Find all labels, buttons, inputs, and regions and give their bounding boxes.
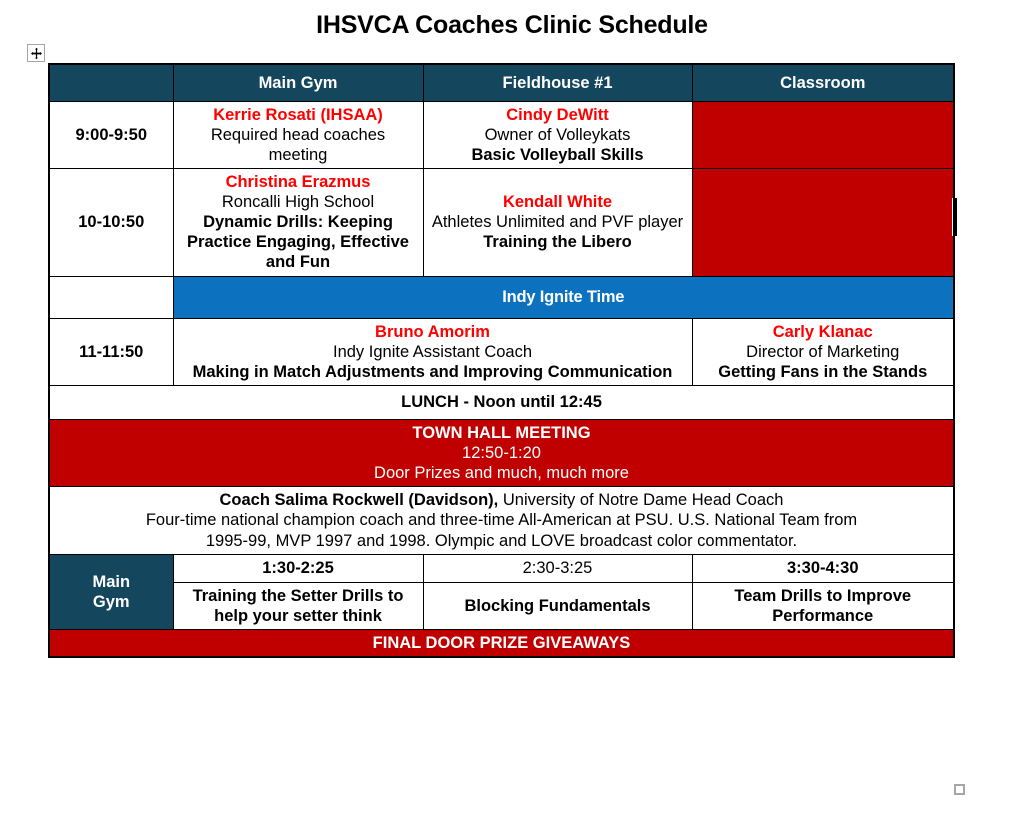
session-merged-11: Bruno Amorim Indy Ignite Assistant Coach… bbox=[173, 318, 692, 385]
session-main-gym-10: Christina Erazmus Roncalli High School D… bbox=[173, 168, 423, 276]
time-cell-10: 10-10:50 bbox=[49, 168, 173, 276]
afternoon-slot-topic-2: Blocking Fundamentals bbox=[423, 582, 692, 629]
keynote-bio-line-1: Four-time national champion coach and th… bbox=[55, 510, 948, 530]
table-row-session-10: 10-10:50 Christina Erazmus Roncalli High… bbox=[49, 168, 954, 276]
venue-label-line-2: Gym bbox=[93, 593, 130, 611]
speaker-name: Carly Klanac bbox=[698, 322, 949, 342]
keynote-block: Coach Salima Rockwell (Davidson), Univer… bbox=[49, 487, 954, 554]
session-topic: Making in Match Adjustments and Improvin… bbox=[179, 362, 687, 382]
speaker-name: Bruno Amorim bbox=[179, 322, 687, 342]
speaker-name: Cindy DeWitt bbox=[429, 105, 687, 125]
session-classroom-11: Carly Klanac Director of Marketing Getti… bbox=[692, 318, 954, 385]
table-move-handle[interactable] bbox=[27, 44, 45, 62]
speaker-role: Director of Marketing bbox=[698, 342, 949, 362]
table-row-session-11: 11-11:50 Bruno Amorim Indy Ignite Assist… bbox=[49, 318, 954, 385]
afternoon-slot-time-3: 3:30-4:30 bbox=[692, 554, 954, 582]
speaker-name: Kerrie Rosati (IHSAA) bbox=[179, 105, 418, 125]
session-classroom-9-empty bbox=[692, 101, 954, 168]
speaker-role: Athletes Unlimited and PVF player bbox=[429, 212, 687, 232]
move-cross-icon bbox=[30, 47, 43, 60]
town-hall-note: Door Prizes and much, much more bbox=[55, 463, 948, 483]
town-hall-title: TOWN HALL MEETING bbox=[55, 423, 948, 443]
header-cell-blank bbox=[49, 64, 173, 101]
header-cell-main-gym: Main Gym bbox=[173, 64, 423, 101]
table-row-ignite-banner: Indy Ignite Time bbox=[49, 276, 954, 318]
speaker-role: Owner of Volleykats bbox=[429, 125, 687, 145]
afternoon-slot-time-2: 2:30-3:25 bbox=[423, 554, 692, 582]
table-row-town-hall: TOWN HALL MEETING 12:50-1:20 Door Prizes… bbox=[49, 419, 954, 486]
table-row-lunch: LUNCH - Noon until 12:45 bbox=[49, 385, 954, 419]
session-main-gym-9: Kerrie Rosati (IHSAA) Required head coac… bbox=[173, 101, 423, 168]
venue-label-main-gym: Main Gym bbox=[49, 554, 173, 629]
time-cell-11: 11-11:50 bbox=[49, 318, 173, 385]
schedule-table-container: Main Gym Fieldhouse #1 Classroom 9:00-9:… bbox=[48, 63, 953, 658]
time-cell-9: 9:00-9:50 bbox=[49, 101, 173, 168]
speaker-name: Kendall White bbox=[429, 192, 687, 212]
afternoon-slot-time-1: 1:30-2:25 bbox=[173, 554, 423, 582]
table-row-afternoon-times: Main Gym 1:30-2:25 2:30-3:25 3:30-4:30 bbox=[49, 554, 954, 582]
afternoon-slot-topic-3: Team Drills to Improve Performance bbox=[692, 582, 954, 629]
keynote-title: University of Notre Dame Head Coach bbox=[498, 491, 783, 509]
venue-label-line-1: Main bbox=[92, 573, 130, 591]
session-fieldhouse-9: Cindy DeWitt Owner of Volleykats Basic V… bbox=[423, 101, 692, 168]
lunch-banner: LUNCH - Noon until 12:45 bbox=[49, 385, 954, 419]
table-row-final: FINAL DOOR PRIZE GIVEAWAYS bbox=[49, 629, 954, 657]
session-classroom-10-empty bbox=[692, 168, 954, 276]
ignite-blank-cell bbox=[49, 276, 173, 318]
page-title: IHSVCA Coaches Clinic Schedule bbox=[0, 0, 1024, 40]
speaker-role: Required head coaches bbox=[179, 125, 418, 145]
speaker-name: Christina Erazmus bbox=[179, 172, 418, 192]
speaker-role: Indy Ignite Assistant Coach bbox=[179, 342, 687, 362]
keynote-bio-line-2: 1995-99, MVP 1997 and 1998. Olympic and … bbox=[55, 531, 948, 551]
schedule-table: Main Gym Fieldhouse #1 Classroom 9:00-9:… bbox=[48, 63, 955, 658]
table-resize-handle[interactable] bbox=[954, 784, 965, 795]
keynote-name: Coach Salima Rockwell (Davidson), bbox=[220, 491, 499, 509]
session-topic: Basic Volleyball Skills bbox=[429, 145, 687, 165]
table-row-session-9: 9:00-9:50 Kerrie Rosati (IHSAA) Required… bbox=[49, 101, 954, 168]
afternoon-slot-topic-1: Training the Setter Drills to help your … bbox=[173, 582, 423, 629]
keynote-headline: Coach Salima Rockwell (Davidson), Univer… bbox=[55, 490, 948, 510]
session-topic: Training the Libero bbox=[429, 232, 687, 252]
header-cell-classroom: Classroom bbox=[692, 64, 954, 101]
table-row-afternoon-topics: Training the Setter Drills to help your … bbox=[49, 582, 954, 629]
column-resize-marker[interactable] bbox=[952, 198, 957, 236]
town-hall-banner: TOWN HALL MEETING 12:50-1:20 Door Prizes… bbox=[49, 419, 954, 486]
final-door-prize-banner: FINAL DOOR PRIZE GIVEAWAYS bbox=[49, 629, 954, 657]
header-cell-fieldhouse: Fieldhouse #1 bbox=[423, 64, 692, 101]
speaker-role-cont: meeting bbox=[179, 145, 418, 165]
table-row-keynote: Coach Salima Rockwell (Davidson), Univer… bbox=[49, 487, 954, 554]
session-topic: Getting Fans in the Stands bbox=[698, 362, 949, 382]
speaker-role: Roncalli High School bbox=[179, 192, 418, 212]
indy-ignite-banner: Indy Ignite Time bbox=[173, 276, 954, 318]
town-hall-time: 12:50-1:20 bbox=[55, 443, 948, 463]
session-fieldhouse-10: Kendall White Athletes Unlimited and PVF… bbox=[423, 168, 692, 276]
session-topic: Dynamic Drills: Keeping Practice Engagin… bbox=[179, 212, 418, 272]
table-header-row: Main Gym Fieldhouse #1 Classroom bbox=[49, 64, 954, 101]
